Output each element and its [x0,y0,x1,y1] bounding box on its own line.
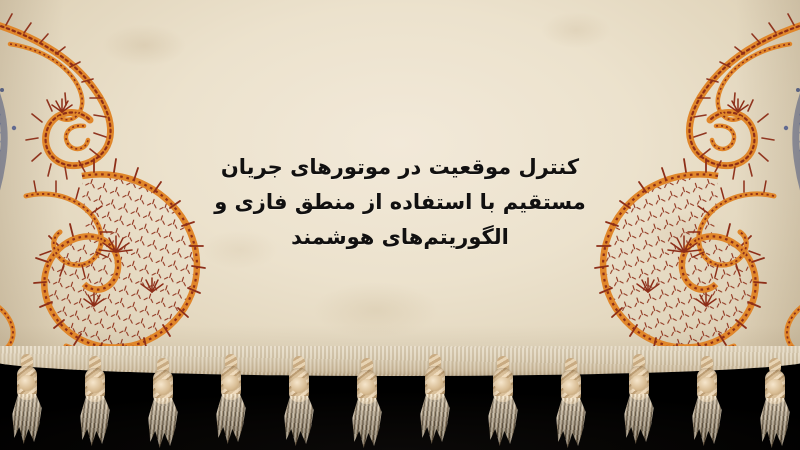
tassel-fringe [0,346,800,450]
tassel-skirt [147,398,179,448]
fabric-hem [0,346,800,376]
tassel-skirt [351,398,383,448]
slide-canvas: کنترل موقعیت در موتورهای جریان مستقیم با… [0,0,800,450]
tassel-skirt [691,396,723,446]
title-line-1: کنترل موقعیت در موتورهای جریان [180,150,620,185]
tassel-skirt [419,394,451,444]
tassel-skirt [11,394,43,444]
tassel [214,366,248,448]
presentation-title: کنترل موقعیت در موتورهای جریان مستقیم با… [0,150,800,255]
tassel [350,370,384,450]
tassel [418,366,452,448]
tassel [690,368,724,450]
tassel-skirt [759,398,791,448]
title-line-3: الگوریتم‌های هوشمند [180,220,620,255]
tassel-skirt [623,394,655,444]
tassel-skirt [555,398,587,448]
tassel-skirt [79,396,111,446]
tassel [622,366,656,448]
tassel-skirt [283,396,315,446]
tassel [758,370,792,450]
tassel-skirt [487,396,519,446]
tassel [554,370,588,450]
tassel [78,368,112,450]
tassel [10,366,44,448]
tassel [146,370,180,450]
tassel-skirt [215,394,247,444]
tassel [486,368,520,450]
hem-weave-texture [0,346,800,376]
title-line-2: مستقیم با استفاده از منطق فازی و [180,185,620,220]
tassel [282,368,316,450]
